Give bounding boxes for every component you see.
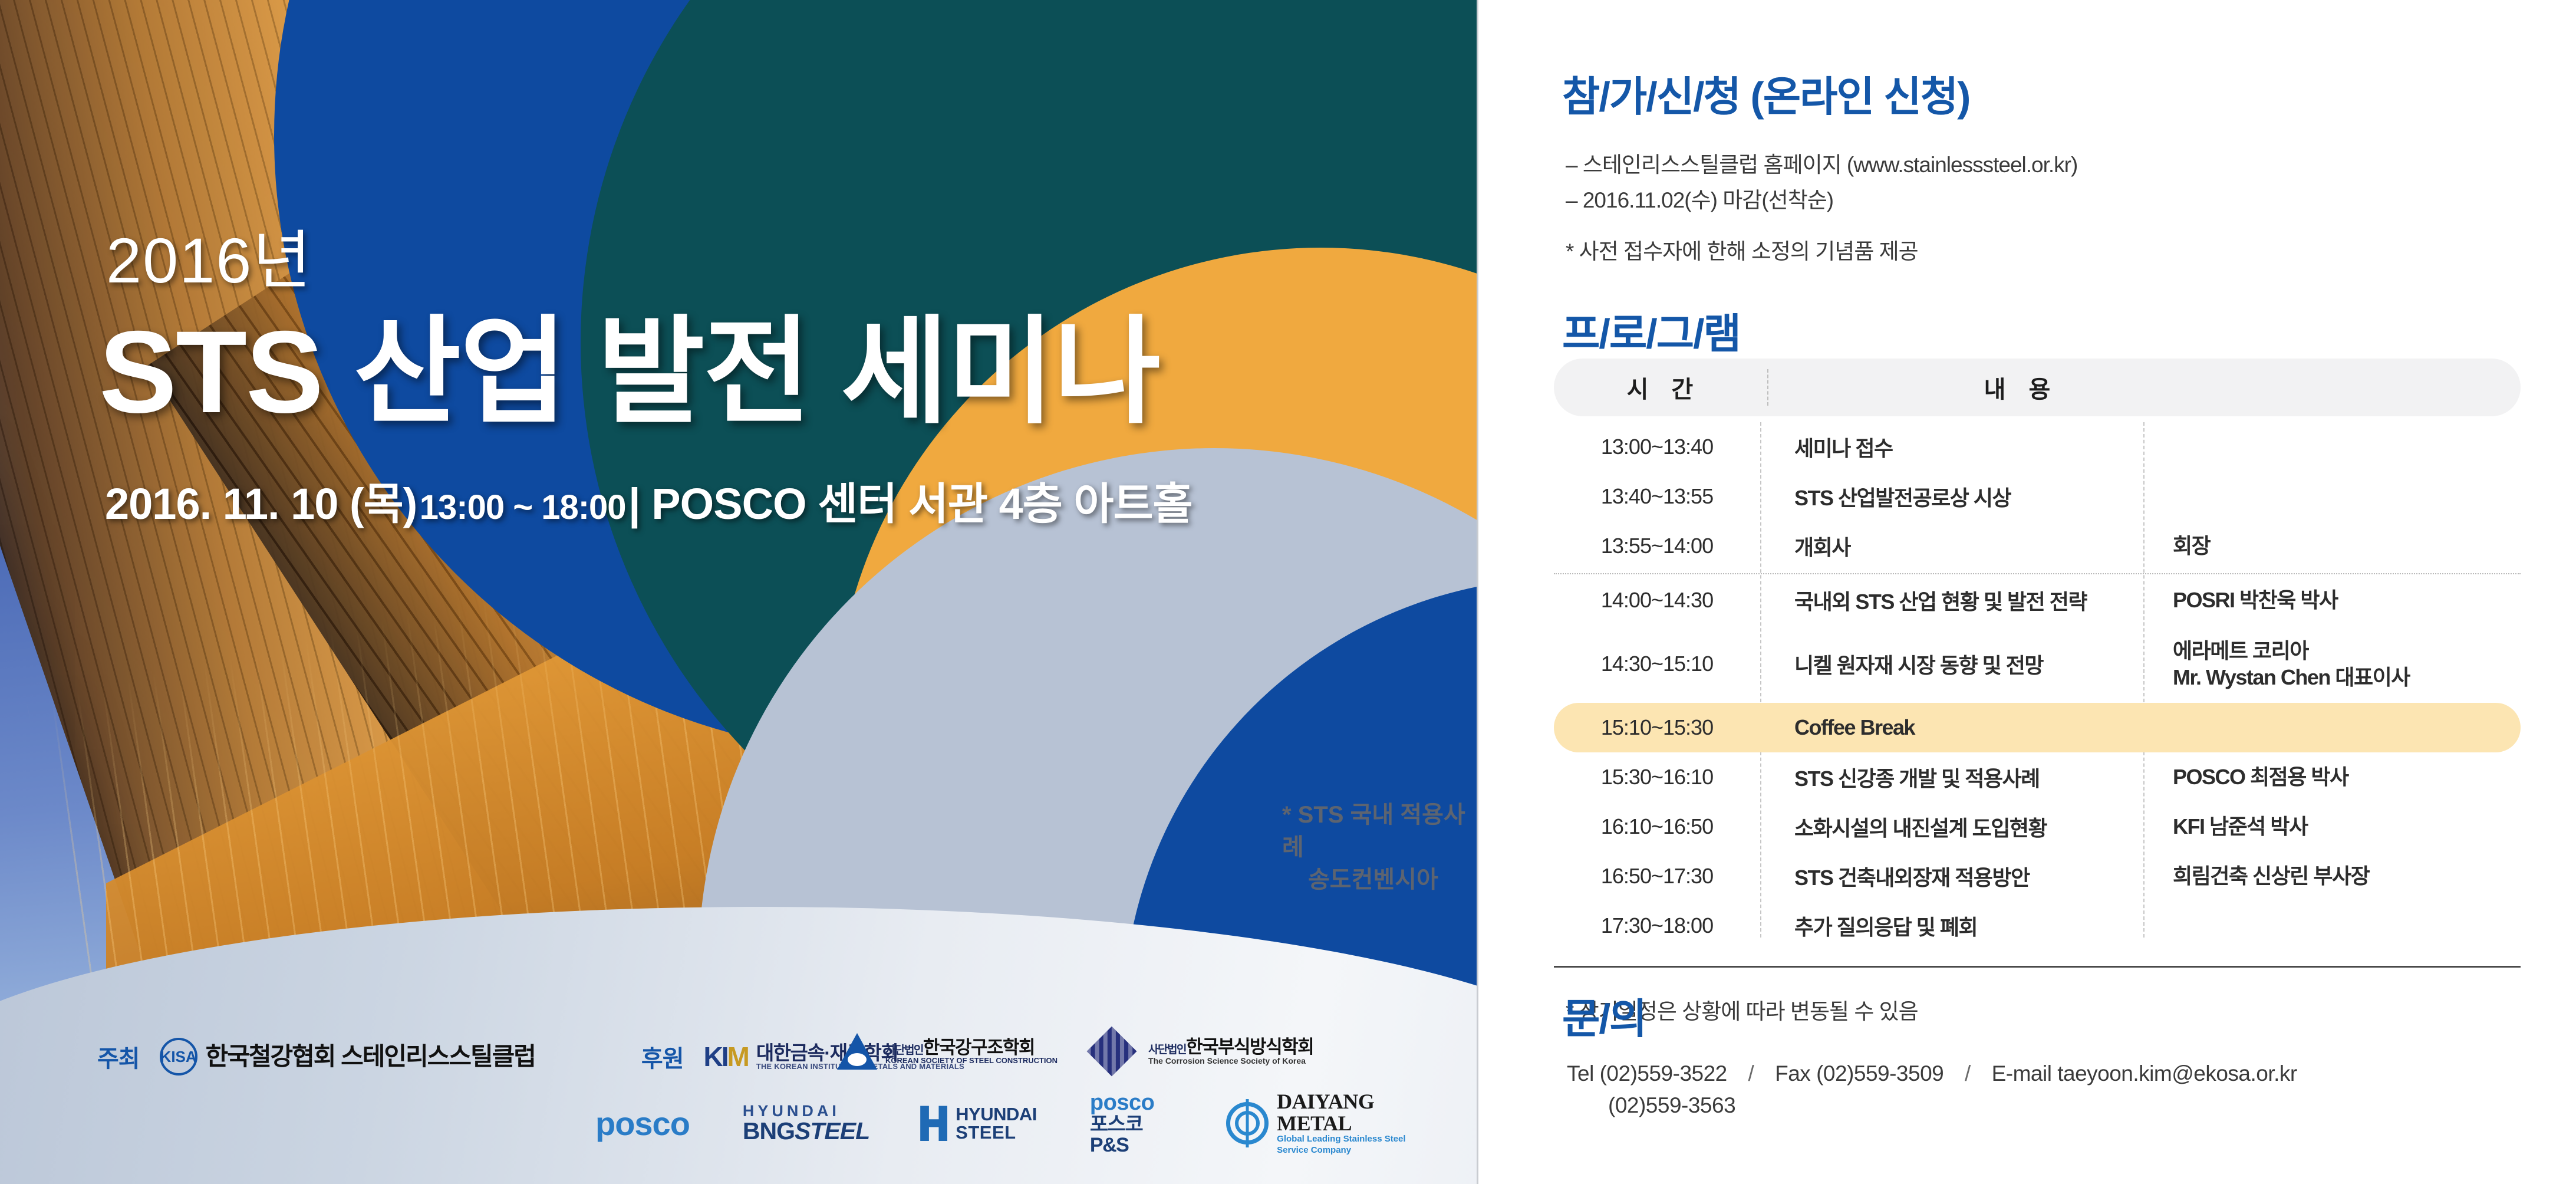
csk-name-kr: 사단법인한국부식방식학회 [1148,1038,1313,1057]
program-table-header: 시 간 내 용 [1554,359,2521,416]
program-row-speaker: KFI 남준석 박사 [2143,813,2521,840]
society-logos-row: 사단법인한국강구조학회 KOREAN SOCIETY OF STEEL CONS… [837,1033,1350,1070]
program-row-time: 17:30~18:00 [1554,913,1760,938]
program-row-time: 16:10~16:50 [1554,814,1760,839]
program-row-time: 14:00~14:30 [1554,588,1760,613]
program-row: 13:55~14:00개회사회장 [1554,521,2521,571]
posco-pns-line1: posco [1090,1091,1175,1114]
csk-kr-text: 한국부식방식학회 [1186,1037,1313,1057]
logo-kssc: 사단법인한국강구조학회 KOREAN SOCIETY OF STEEL CONS… [837,1033,1058,1070]
daiyang-target-icon [1226,1102,1269,1144]
csk-diamond-icon [1087,1027,1137,1077]
csk-name-en: The Corrosion Science Society of Korea [1148,1057,1313,1065]
program-row: 13:40~13:55STS 산업발전공로상 시상 [1554,472,2521,521]
daiyang-tagline-2: Service Company [1277,1145,1440,1156]
bng-wordmark: HYUNDAI BNGSTEEL [743,1103,869,1144]
logo-bng-steel: HYUNDAI BNGSTEEL [743,1103,869,1144]
email-value[interactable]: taeyoon.kim@ekosa.or.kr [2057,1061,2297,1086]
section-title-apply: 참/가/신/청 (온라인 신청) [1562,64,1969,123]
hyundai-h-icon [920,1106,947,1141]
program-row: 16:10~16:50소화시설의 내진설계 도입현황KFI 남준석 박사 [1554,802,2521,851]
photo-caption-line1: * STS 국내 적용사례 [1282,802,1465,860]
kssc-prefix: 사단법인 [885,1044,923,1057]
kssc-name-kr: 사단법인한국강구조학회 [885,1038,1058,1057]
program-row-content: 추가 질의응답 및 폐회 [1760,910,2143,941]
fax-value: (02)559-3509 [1816,1061,1943,1086]
apply-bullets: – 스테인리스스틸클럽 홈페이지 (www.stainlesssteel.or.… [1566,147,2544,265]
posco-pns-wordmark: posco 포스코P&S [1090,1091,1175,1155]
program-row: 17:30~18:00추가 질의응답 및 폐회 [1554,901,2521,951]
tel-value: (02)559-3522 [1600,1061,1727,1086]
program-row: 14:30~15:10니켈 원자재 시장 동향 및 전망에라메트 코리아Mr. … [1554,625,2521,703]
program-row-speaker: 에라메트 코리아Mr. Wystan Chen 대표이사 [2143,637,2521,691]
csk-prefix: 사단법인 [1148,1044,1186,1056]
steel-text: STEEL [956,1123,1037,1142]
column-header-content: 내 용 [1770,370,2521,404]
apply-bullet-1: – 2016.11.02(수) 마감(선착순) [1566,183,2544,218]
bng-hyundai-text: HYUNDAI [743,1103,869,1120]
poster-time: 13:00 ~ 18:00 [420,488,626,527]
logo-daiyang-metal: DAIYANG METAL Global Leading Stainless S… [1226,1091,1440,1156]
poster-title: STS 산업 발전 세미나 [99,277,1159,446]
program-row-time: 13:55~14:00 [1554,534,1760,558]
program-row-time: 16:50~17:30 [1554,864,1760,889]
host-name: 한국철강협회 스테인리스스틸클럽 [206,1044,535,1070]
left-visual-panel: 2016년 STS 산업 발전 세미나 2016. 11. 10 (목) 13:… [0,0,1477,1184]
poster-datetime-venue: 2016. 11. 10 (목) 13:00 ~ 18:00 | POSCO 센… [105,469,1193,532]
contact-line-primary: Tel (02)559-3522 / Fax (02)559-3509 / E-… [1567,1061,2569,1086]
sponsor-label: 후원 [641,1040,684,1074]
program-row-time: 15:10~15:30 [1554,715,1760,740]
section-title-program: 프/로/그/램 [1562,301,1740,360]
kisa-seal-icon: KISA [160,1038,197,1076]
bng-bold: BNG [743,1117,795,1144]
program-table-body: 13:00~13:40세미나 접수13:40~13:55STS 산업발전공로상 … [1554,422,2521,951]
logo-kisa: KISA 한국철강협회 스테인리스스틸클럽 [160,1038,535,1076]
right-info-panel: 참/가/신/청 (온라인 신청) – 스테인리스스틸클럽 홈페이지 (www.s… [1478,0,2576,1184]
program-note: * 상기일정은 상황에 따라 변동될 수 있음 [1554,994,2521,1025]
apply-bullet-0: – 스테인리스스틸클럽 홈페이지 (www.stainlesssteel.or.… [1566,147,2544,183]
contact-separator-1: / [1733,1061,1770,1086]
logo-posco-pns: posco 포스코P&S [1090,1091,1175,1155]
program-row-speaker: 희림건축 신상린 부사장 [2143,863,2521,889]
hyundai-steel-wordmark: HYUNDAI STEEL [956,1105,1037,1142]
program-table: 시 간 내 용 13:00~13:40세미나 접수13:40~13:55STS … [1554,359,2521,1025]
contact-block: Tel (02)559-3522 / Fax (02)559-3509 / E-… [1567,1061,2569,1118]
program-row-content: 니켈 원자재 시장 동향 및 전망 [1760,649,2143,679]
program-row: 13:00~13:40세미나 접수 [1554,422,2521,472]
tel-label: Tel [1567,1061,1594,1086]
kssc-triangle-icon [837,1033,877,1070]
bng-italic: STEEL [795,1117,869,1144]
seminar-poster: 2016년 STS 산업 발전 세미나 2016. 11. 10 (목) 13:… [0,0,2576,1184]
program-row-content: STS 산업발전공로상 시상 [1760,481,2143,512]
contact-separator-2: / [1949,1061,1986,1086]
daiyang-wordmark: DAIYANG METAL Global Leading Stainless S… [1277,1091,1440,1156]
photo-caption-line2: 송도컨벤시아 [1282,864,1477,896]
poster-date: 2016. 11. 10 (목) [105,479,417,528]
kssc-name-en: KOREAN SOCIETY OF STEEL CONSTRUCTION [885,1057,1058,1064]
email-label: E-mail [1992,1061,2052,1086]
daiyang-tagline-1: Global Leading Stainless Steel [1277,1134,1440,1145]
fax-label: Fax [1775,1061,1810,1086]
program-row-speaker: 회장 [2143,532,2521,559]
photo-caption: * STS 국내 적용사례 송도컨벤시아 [1282,799,1477,897]
kssc-kr-text: 한국강구조학회 [923,1037,1035,1058]
program-row-time: 13:40~13:55 [1554,484,1760,509]
program-row-content: STS 건축내외장재 적용방안 [1760,861,2143,892]
program-row-content: 세미나 접수 [1760,432,2143,462]
program-row-content: STS 신강종 개발 및 적용사례 [1760,762,2143,792]
program-row-speaker: POSRI 박찬욱 박사 [2143,587,2521,613]
section-title-contact: 문/의 [1562,986,1646,1045]
program-row: 16:50~17:30STS 건축내외장재 적용방안희림건축 신상린 부사장 [1554,851,2521,901]
daiyang-name: DAIYANG METAL [1277,1091,1440,1134]
csk-wordmark: 사단법인한국부식방식학회 The Corrosion Science Socie… [1148,1038,1313,1065]
column-header-time: 시 간 [1554,370,1767,404]
program-row-content: Coffee Break [1760,715,2143,740]
program-row-speaker: POSCO 최점용 박사 [2143,764,2521,790]
program-row-time: 15:30~16:10 [1554,765,1760,790]
corporate-sponsor-row: posco HYUNDAI BNGSTEEL HYUNDAI STEEL [595,1091,1477,1156]
program-row: 14:00~14:30국내외 STS 산업 현황 및 발전 전략POSRI 박찬… [1554,575,2521,625]
hyundai-text: HYUNDAI [956,1105,1037,1124]
program-row: 15:30~16:10STS 신강종 개발 및 적용사례POSCO 최점용 박사 [1554,752,2521,802]
apply-note: * 사전 접수자에 한해 소정의 기념품 제공 [1566,233,2544,265]
program-section-separator [1554,573,2521,574]
program-row-time: 13:00~13:40 [1554,435,1760,459]
host-label: 주최 [97,1040,140,1074]
kssc-wordmark: 사단법인한국강구조학회 KOREAN SOCIETY OF STEEL CONS… [885,1038,1058,1065]
program-row-content: 개회사 [1760,531,2143,561]
kim-mark-icon: KIM [704,1041,748,1073]
program-row: 15:10~15:30Coffee Break [1554,703,2521,752]
program-row-content: 소화시설의 내진설계 도입현황 [1760,811,2143,842]
program-row-time: 14:30~15:10 [1554,652,1760,676]
tel-secondary: (02)559-3563 [1567,1093,2569,1118]
poster-venue: | POSCO 센터 서관 4층 아트홀 [628,479,1193,528]
posco-pns-line2: 포스코P&S [1090,1114,1175,1155]
program-table-bottom-rule [1554,966,2521,968]
logo-hyundai-steel: HYUNDAI STEEL [920,1105,1037,1142]
bng-steel-text: BNGSTEEL [743,1119,869,1144]
program-row-content: 국내외 STS 산업 현황 및 발전 전략 [1760,585,2143,616]
logo-posco: posco [595,1104,690,1143]
logo-csk: 사단법인한국부식방식학회 The Corrosion Science Socie… [1094,1034,1313,1069]
